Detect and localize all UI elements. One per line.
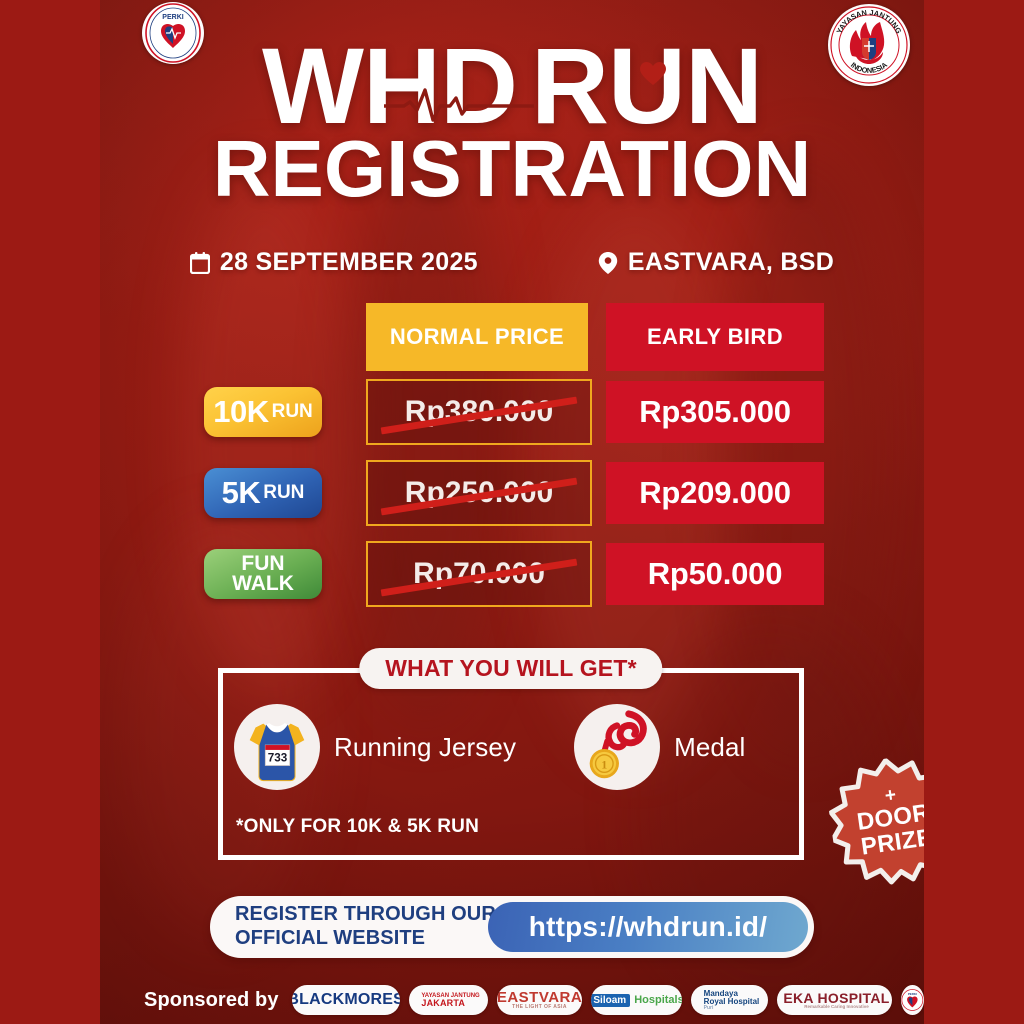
- headline-line-1: WHDRUN: [262, 36, 762, 135]
- event-location: EASTVARA, BSD: [598, 248, 834, 277]
- headline-whd: WHD: [262, 25, 517, 146]
- sponsor-siloam-text: Siloam: [591, 994, 630, 1007]
- event-location-text: EASTVARA, BSD: [628, 248, 834, 277]
- sponsor-blackmores-text: BLACKMORES: [292, 991, 400, 1009]
- early-bird-price-10k: Rp305.000: [639, 394, 791, 430]
- calendar-icon: [190, 252, 210, 274]
- register-instruction-line1: REGISTER THROUGH OUR: [235, 903, 496, 927]
- medal-icon: 1: [574, 704, 660, 790]
- sponsor-blackmores: BLACKMORES: [292, 985, 400, 1015]
- category-badge-5k-sub: RUN: [263, 482, 304, 504]
- benefit-running-jersey: 733 Running Jersey: [234, 704, 516, 790]
- sponsor-eastvara: EASTVARA THE LIGHT OF ASIA: [497, 985, 582, 1015]
- sponsors-bar: Sponsored by BLACKMORES YAYASAN JANTUNG …: [100, 980, 924, 1020]
- sponsor-siloam-sub: Hospitals: [634, 994, 682, 1006]
- svg-text:PERKI: PERKI: [908, 992, 917, 996]
- early-bird-cell-10k: Rp305.000: [606, 381, 824, 443]
- category-badge-fun-walk: FUN WALK: [204, 549, 322, 599]
- sponsor-mandaya-royal-hospital: Mandaya Royal Hospital Puri: [691, 985, 767, 1015]
- early-bird-price-fun-walk: Rp50.000: [648, 556, 783, 592]
- svg-text:1: 1: [601, 758, 607, 771]
- door-prize-badge: + DOOR PRIZE: [823, 750, 924, 892]
- normal-price-cell-5k: Rp250.000: [366, 460, 592, 526]
- sponsor-jantung-jakarta: YAYASAN JANTUNG JAKARTA: [409, 985, 488, 1015]
- pricing-table: NORMAL PRICE EARLY BIRD 10K RUN Rp380.00…: [204, 303, 824, 614]
- early-bird-cell-fun-walk: Rp50.000: [606, 543, 824, 605]
- benefit-medal: 1 Medal: [574, 704, 745, 790]
- early-bird-cell-5k: Rp209.000: [606, 462, 824, 524]
- running-jersey-icon: 733: [234, 704, 320, 790]
- normal-price-cell-fun-walk: Rp70.000: [366, 541, 592, 607]
- running-jersey-graphic: 733: [238, 708, 316, 786]
- poster-frame: PERKI YAYASAN JANTUNG INDONESIA: [0, 0, 1024, 1024]
- benefits-note: *ONLY FOR 10K & 5K RUN: [236, 816, 479, 838]
- starburst-icon: [823, 750, 924, 892]
- normal-price-cell-10k: Rp380.000: [366, 379, 592, 445]
- event-poster: PERKI YAYASAN JANTUNG INDONESIA: [100, 0, 924, 1024]
- sponsor-eka-text: EKA HOSPITAL: [783, 991, 889, 1005]
- sponsor-siloam-hospitals: Siloam Hospitals: [591, 985, 682, 1015]
- benefits-list: 733 Running Jersey: [234, 704, 745, 790]
- sponsor-eka-sub: Remarkable Caring Innovative: [804, 1005, 869, 1010]
- benefits-heading: WHAT YOU WILL GET*: [359, 648, 662, 689]
- category-badge-10k-sub: RUN: [272, 401, 313, 423]
- medal-graphic: 1: [578, 708, 656, 786]
- pricing-row-fun-walk: FUN WALK Rp70.000 Rp50.000: [204, 533, 824, 614]
- sponsor-eastvara-sub: THE LIGHT OF ASIA: [512, 1005, 567, 1010]
- column-header-normal-price: NORMAL PRICE: [366, 303, 588, 371]
- event-date-text: 28 SEPTEMBER 2025: [220, 248, 478, 277]
- sponsor-perki: PERKI: [901, 985, 924, 1015]
- category-badge-10k: 10K RUN: [204, 387, 322, 437]
- sponsored-by-label: Sponsored by: [144, 989, 279, 1012]
- sponsor-jantung-jakarta-line2: JAKARTA: [421, 999, 465, 1008]
- svg-text:PERKI: PERKI: [162, 14, 183, 21]
- category-badge-fun-walk-sub: WALK: [232, 574, 294, 594]
- pricing-row-10k: 10K RUN Rp380.000 Rp305.000: [204, 371, 824, 452]
- perki-small-icon: PERKI: [901, 987, 924, 1013]
- benefits-section: WHAT YOU WILL GET* 733 Running Jers: [218, 668, 804, 860]
- map-pin-icon: [598, 252, 618, 274]
- poster-headline: WHDRUN REGISTRATION: [100, 36, 924, 209]
- sponsor-mandaya-line3: Puri: [704, 1006, 714, 1011]
- register-bar[interactable]: REGISTER THROUGH OUR OFFICIAL WEBSITE ht…: [210, 896, 814, 958]
- category-badge-10k-main: 10K: [213, 394, 268, 430]
- pricing-header-row: NORMAL PRICE EARLY BIRD: [204, 303, 824, 371]
- category-badge-5k: 5K RUN: [204, 468, 322, 518]
- category-badge-5k-main: 5K: [222, 475, 261, 511]
- sponsor-eastvara-text: EASTVARA: [497, 990, 582, 1005]
- pricing-row-5k: 5K RUN Rp250.000 Rp209.000: [204, 452, 824, 533]
- register-instruction: REGISTER THROUGH OUR OFFICIAL WEBSITE: [235, 903, 496, 950]
- svg-text:733: 733: [268, 752, 288, 765]
- column-header-early-bird: EARLY BIRD: [606, 303, 824, 371]
- early-bird-price-5k: Rp209.000: [639, 475, 791, 511]
- website-url-button[interactable]: https://whdrun.id/: [488, 902, 808, 952]
- heart-icon: [640, 62, 666, 86]
- sponsor-eka-hospital: EKA HOSPITAL Remarkable Caring Innovativ…: [777, 985, 893, 1015]
- register-instruction-line2: OFFICIAL WEBSITE: [235, 927, 496, 951]
- event-meta-row: 28 SEPTEMBER 2025 EASTVARA, BSD: [100, 248, 924, 277]
- category-badge-fun-walk-main: FUN: [241, 554, 284, 574]
- event-date: 28 SEPTEMBER 2025: [190, 248, 478, 277]
- benefit-label-medal: Medal: [674, 732, 745, 763]
- benefit-label-running-jersey: Running Jersey: [334, 732, 516, 763]
